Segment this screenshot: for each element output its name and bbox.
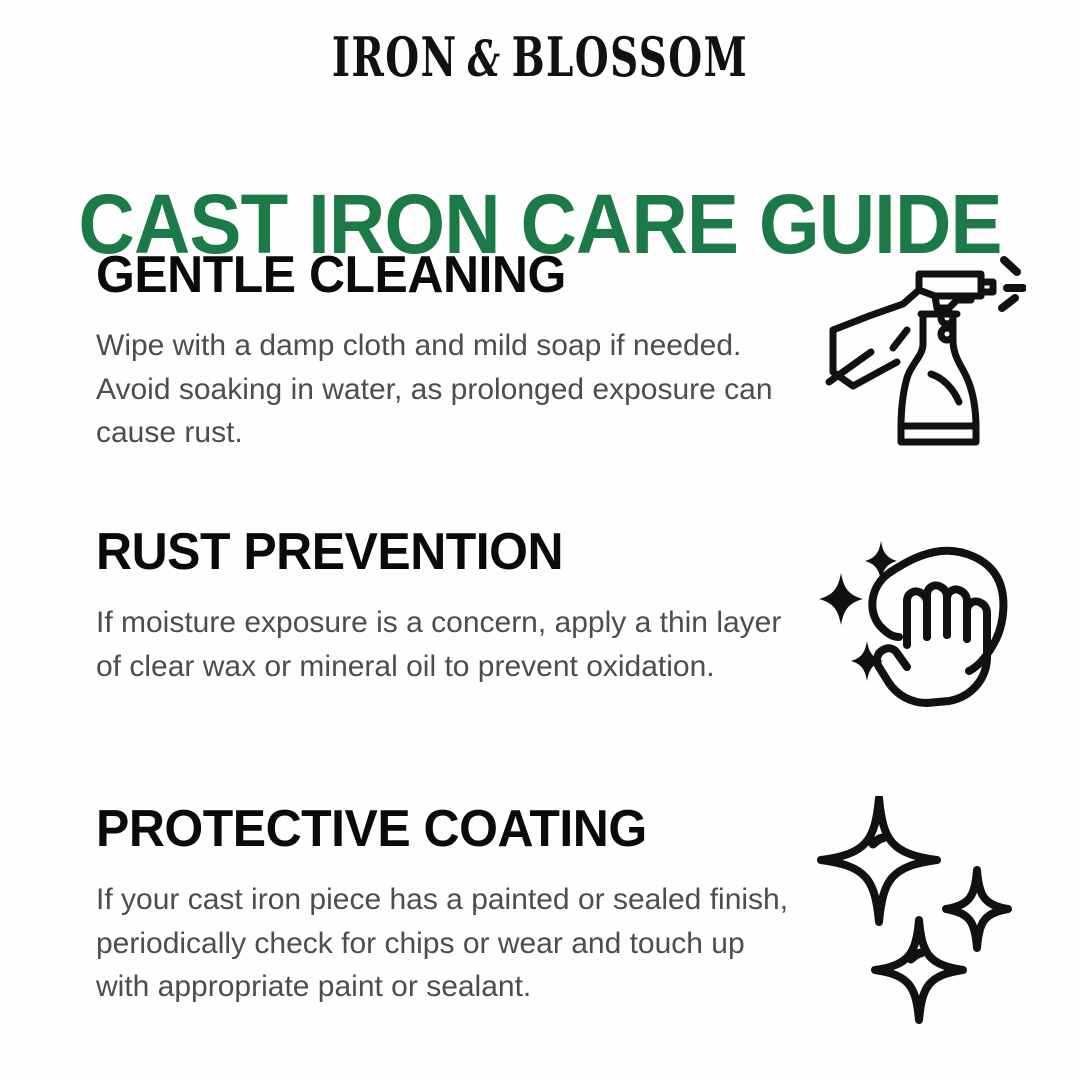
section-text-block: RUST PREVENTION If moisture exposure is … — [96, 525, 806, 688]
section-heading: GENTLE CLEANING — [96, 248, 778, 302]
section-body: If moisture exposure is a concern, apply… — [96, 601, 806, 688]
section-protective-coating: PROTECTIVE COATING If your cast iron pie… — [96, 802, 1026, 1009]
brand-name-part2: BLOSSOM — [512, 25, 748, 89]
section-body: If your cast iron piece has a painted or… — [96, 878, 806, 1009]
sparkles-icon — [811, 796, 1026, 996]
brand-name-part1: IRON — [332, 25, 458, 89]
section-body: Wipe with a damp cloth and mild soap if … — [96, 324, 806, 455]
care-guide-poster: IRON&BLOSSOM CAST IRON CARE GUIDE GENTLE… — [0, 0, 1080, 1080]
hand-wiping-cloth-icon — [811, 533, 1026, 733]
spray-bottle-icon — [811, 252, 1026, 452]
section-text-block: GENTLE CLEANING Wipe with a damp cloth a… — [96, 248, 806, 455]
section-heading: RUST PREVENTION — [96, 525, 778, 579]
section-heading: PROTECTIVE COATING — [96, 802, 778, 856]
brand-wordmark: IRON&BLOSSOM — [151, 30, 929, 84]
brand-ampersand: & — [458, 29, 512, 88]
section-rust-prevention: RUST PREVENTION If moisture exposure is … — [96, 525, 1026, 733]
section-text-block: PROTECTIVE COATING If your cast iron pie… — [96, 802, 806, 1009]
section-gentle-cleaning: GENTLE CLEANING Wipe with a damp cloth a… — [96, 248, 1026, 455]
